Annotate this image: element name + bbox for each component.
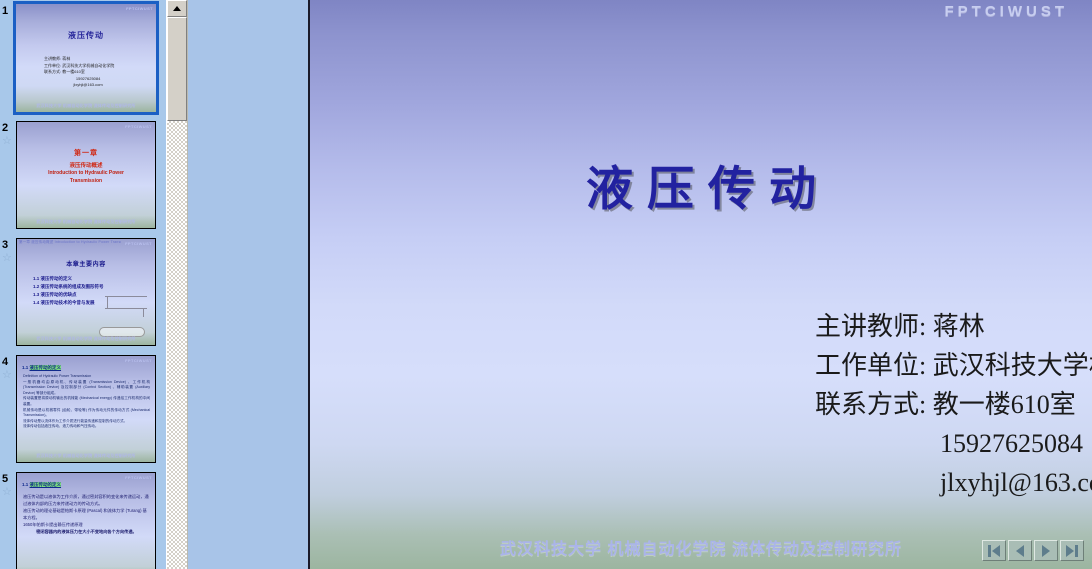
- slide-navigation-controls[interactable]: [982, 540, 1084, 561]
- thumb-corner-logo-icon: FPTCIWUST: [125, 475, 152, 480]
- thumbnail-frame-1[interactable]: FPTCIWUST 液压传动 主讲教师: 蒋林 工作单位: 武汉科技大学机械自动…: [13, 1, 159, 115]
- thumb-corner-logo-icon: FPTCIWUST: [125, 358, 152, 363]
- thumb-subtitle-cn-2: 液压传动概述: [17, 162, 155, 170]
- thumb-line: 液压传动的理论基础是帕斯卡原理 (Pascal) 和流体力学 (Turang) …: [23, 507, 150, 521]
- scrollbar-track[interactable]: [167, 17, 187, 569]
- thumb-corner-logo-icon: FPTCIWUST: [125, 241, 152, 246]
- thumb-body-4: Definition of Hydraulic Power Transmissi…: [23, 374, 150, 430]
- thumbnail-preview-2: FPTCIWUST 第一章 液压传动概述 Introduction to Hyd…: [17, 122, 155, 228]
- thumb-heading-text: 液压传动的定义: [30, 482, 62, 487]
- thumb-list-item: 1.2 液压传动系统的组成及图形符号: [33, 283, 104, 291]
- thumb-footer-4: 武汉科技大学 机械自动化学院 流体传动及控制研究所: [17, 453, 155, 459]
- thumb-corner-logo-icon: FPTCIWUST: [126, 6, 153, 11]
- thumb-footer-2: 武汉科技大学 机械自动化学院 流体传动及控制研究所: [17, 219, 155, 225]
- slide-thumbnail-panel[interactable]: 1 FPTCIWUST 液压传动 主讲教师: 蒋林 工作单位: 武汉科技大学机械…: [0, 0, 166, 569]
- thumb-line: 液压传动是以液体为工作介质，通过密封容积的变化来传递运动，通过液体内部的压力来传…: [23, 493, 150, 507]
- thumb-line: 1650年帕斯卡提出静压传递原理: [23, 521, 150, 528]
- previous-slide-button[interactable]: [1008, 540, 1032, 561]
- thumb-footer-3: 武汉科技大学 机械自动化学院 流体传动及控制研究所: [17, 336, 155, 342]
- thumb-line: 密闭容器内的液体压力在大小不变地向各个方向传递。: [23, 528, 150, 535]
- thumb-body-1: 主讲教师: 蒋林 工作单位: 武汉科技大学机械自动化学院 联系方式: 教一楼61…: [44, 56, 114, 89]
- thumb-list-item: 1.1 液压传动的定义: [33, 275, 104, 283]
- thumb-list-item: 1.4 液压传动技术的今昔与发展: [33, 299, 104, 307]
- slide-corner-logo-icon: FPTCIWUST: [945, 3, 1069, 20]
- thumbnail-frame-3[interactable]: 第一章 液压传动概述 Introduction to Hydraulic Pow…: [16, 238, 156, 346]
- presentation-viewer-window: 1 FPTCIWUST 液压传动 主讲教师: 蒋林 工作单位: 武汉科技大学机械…: [0, 0, 1092, 569]
- thumbnail-frame-5[interactable]: FPTCIWUST 1.1 液压传动的定义 液压传动是以液体为工作介质，通过密封…: [16, 472, 156, 569]
- thumbnail-preview-4: FPTCIWUST 1.1 液压传动的定义 Definition of Hydr…: [17, 356, 155, 462]
- animation-star-icon: ☆: [2, 487, 12, 498]
- thumb-footer-1: 武汉科技大学 机械自动化学院 流体传动及控制研究所: [16, 103, 156, 109]
- thumb-line: Introduction to Hydraulic Power: [17, 170, 155, 178]
- triangle-left-icon: [992, 545, 1000, 557]
- thumbnail-frame-2[interactable]: FPTCIWUST 第一章 液压传动概述 Introduction to Hyd…: [16, 121, 156, 229]
- slide-body-line: 主讲教师: 蒋林: [815, 307, 1092, 346]
- thumbnail-preview-5: FPTCIWUST 1.1 液压传动的定义 液压传动是以液体为工作介质，通过密封…: [17, 473, 155, 569]
- thumbnail-preview-3: 第一章 液压传动概述 Introduction to Hydraulic Pow…: [17, 239, 155, 345]
- thumb-corner-logo-icon: FPTCIWUST: [125, 124, 152, 129]
- slide-body-line: jlxyhjl@163.com: [815, 463, 1092, 502]
- thumbnail-number-5: 5: [2, 474, 8, 485]
- thumb-title-1: 液压传动: [16, 30, 156, 41]
- thumb-body-5: 液压传动是以液体为工作介质，通过密封容积的变化来传递运动，通过液体内部的压力来传…: [23, 493, 150, 535]
- thumb-subtitle-en-2: Introduction to Hydraulic Power Transmis…: [17, 170, 155, 185]
- thumb-line: 机械传动是以机械零件 (齿轮、带轮等) 作为传动元件的传动方式 (Mechani…: [23, 408, 150, 419]
- thumb-line: Transmission: [17, 178, 155, 186]
- thumbnail-preview-1: FPTCIWUST 液压传动 主讲教师: 蒋林 工作单位: 武汉科技大学机械自动…: [16, 4, 156, 112]
- panel-filler-area: [187, 0, 310, 569]
- animation-star-icon: ☆: [2, 253, 12, 264]
- thumbnail-number-3: 3: [2, 240, 8, 251]
- thumbnail-number-1: 1: [2, 6, 8, 17]
- last-slide-button[interactable]: [1060, 540, 1084, 561]
- thumb-heading-5: 1.1 液压传动的定义: [22, 482, 61, 488]
- slide-footer: 武汉科技大学 机械自动化学院 流体传动及控制研究所: [310, 535, 1092, 559]
- thumb-heading-4: 1.1 液压传动的定义: [22, 365, 61, 371]
- thumb-list-3: 1.1 液压传动的定义 1.2 液压传动系统的组成及图形符号 1.3 液压传动的…: [33, 275, 104, 307]
- thumb-line: 一般机器均由原动机、传动装置 (Transmission Device) 、工作…: [23, 380, 150, 397]
- bar-icon: [988, 545, 991, 557]
- thumb-diagram-icon: [105, 293, 147, 319]
- thumb-list-item: 1.3 液压传动的优缺点: [33, 291, 104, 299]
- slide-body-line: 工作单位: 武汉科技大学机械自动化学院: [815, 346, 1092, 385]
- animation-star-icon: ☆: [2, 370, 12, 381]
- bar-icon: [1075, 545, 1078, 557]
- thumb-line: 流体传动包括液压传动、液力传动和气压传动。: [23, 424, 150, 430]
- active-slide[interactable]: FPTCIWUST 液压传动 主讲教师: 蒋林 工作单位: 武汉科技大学机械自动…: [310, 0, 1092, 569]
- thumb-heading-text: 液压传动的定义: [30, 365, 62, 370]
- thumbnail-frame-4[interactable]: FPTCIWUST 1.1 液压传动的定义 Definition of Hydr…: [16, 355, 156, 463]
- chevron-up-icon: [173, 6, 181, 11]
- thumbnail-number-4: 4: [2, 357, 8, 368]
- thumb-heading-num: 1.1: [22, 482, 28, 487]
- triangle-right-icon: [1042, 545, 1050, 557]
- scrollbar-up-button[interactable]: [167, 0, 187, 17]
- first-slide-button[interactable]: [982, 540, 1006, 561]
- thumb-heading-num: 1.1: [22, 365, 28, 370]
- thumb-chapter-2: 第一章: [17, 148, 155, 158]
- triangle-left-icon: [1016, 545, 1024, 557]
- thumbnail-number-2: 2: [2, 123, 8, 134]
- next-slide-button[interactable]: [1034, 540, 1058, 561]
- thumb-line: 传动装置是将原动机输出的机械能 (Mechanical energy) 传递给工…: [23, 396, 150, 407]
- animation-star-icon: ☆: [2, 136, 12, 147]
- thumbnail-scrollbar[interactable]: [166, 0, 187, 569]
- thumb-line: jlxyhjl@163.com: [44, 82, 114, 89]
- triangle-right-icon: [1066, 545, 1074, 557]
- thumb-topbar-3: 第一章 液压传动概述 Introduction to Hydraulic Pow…: [19, 240, 121, 245]
- slide-body-line: 15927625084: [815, 424, 1092, 463]
- slide-title: 液压传动: [310, 150, 1092, 219]
- scrollbar-thumb[interactable]: [167, 17, 187, 121]
- first-slide-icon: [988, 545, 1000, 557]
- slide-body-text: 主讲教师: 蒋林 工作单位: 武汉科技大学机械自动化学院 联系方式: 教一楼61…: [815, 307, 1092, 502]
- slide-body-line: 联系方式: 教一楼610室: [815, 385, 1092, 424]
- last-slide-icon: [1066, 545, 1078, 557]
- thumb-title-3: 本章主要内容: [17, 259, 155, 268]
